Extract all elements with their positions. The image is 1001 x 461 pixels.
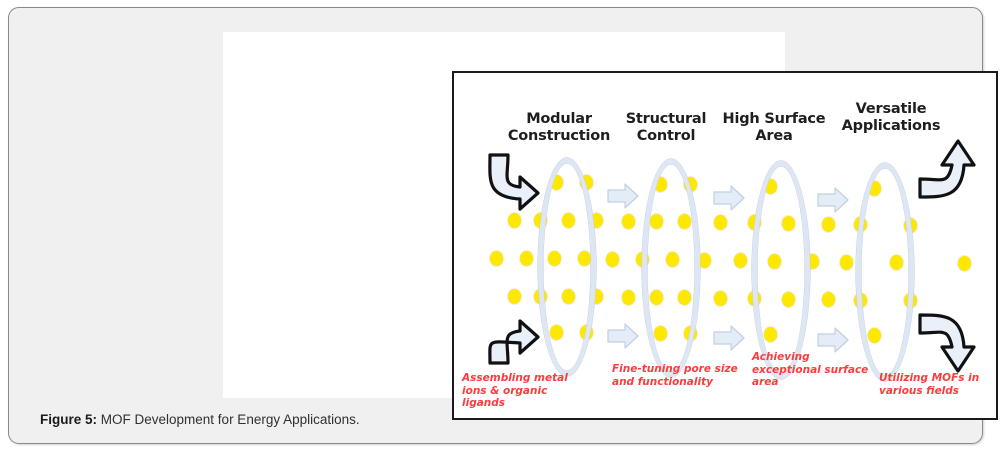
ring-versatile-applications (856, 163, 914, 381)
figure-caption-label: Figure 5: (40, 412, 97, 427)
annotation-line2: various fields (879, 385, 997, 398)
dot (520, 251, 533, 266)
stage-heading-line1: Modular (504, 111, 614, 128)
annotation-line1: Utilizing MOFs in (879, 372, 997, 385)
annotation-line2: ions & organic ligands (462, 385, 582, 410)
dot (958, 256, 971, 271)
stage-heading-line1: Structural (617, 111, 715, 128)
curved-arrow-in-bottom-icon (480, 305, 542, 372)
annotation-high-surface-area: Achieving exceptional surface area (752, 351, 874, 389)
dot (714, 215, 727, 230)
dot (734, 253, 747, 268)
stage-heading-versatile-applications: Versatile Applications (832, 101, 950, 135)
dot (622, 214, 635, 229)
ring-high-surface-area (752, 161, 810, 379)
ring-modular-construction (538, 158, 596, 376)
stage-heading-line2: Area (720, 128, 828, 145)
curved-arrow-out-top-icon (916, 135, 982, 206)
stage-heading-line2: Control (617, 128, 715, 145)
annotation-line1: Assembling metal (462, 372, 582, 385)
figure-caption: Figure 5: MOF Development for Energy App… (40, 412, 360, 427)
dot (606, 252, 619, 267)
stage-heading-line2: Construction (504, 128, 614, 145)
curved-arrow-in-top-icon (480, 151, 542, 218)
block-arrow-right-icon (712, 323, 746, 353)
annotation-line1: Achieving (752, 351, 874, 364)
annotation-versatile-applications: Utilizing MOFs in various fields (879, 372, 997, 397)
dot (822, 292, 835, 307)
annotation-line3: area (752, 376, 874, 389)
annotation-line1: Fine-tuning pore size (612, 363, 738, 376)
block-arrow-right-icon (606, 181, 640, 211)
ring-structural-control (642, 159, 700, 377)
dot (508, 289, 521, 304)
dot (622, 290, 635, 305)
mof-development-diagram: Modular Construction Structural Control … (452, 71, 998, 420)
stage-heading-line1: High Surface (720, 111, 828, 128)
dot (490, 251, 503, 266)
figure-image-plate: Modular Construction Structural Control … (223, 32, 785, 398)
stage-heading-high-surface-area: High Surface Area (720, 111, 828, 145)
stage-heading-line1: Versatile (832, 101, 950, 118)
figure-card: Modular Construction Structural Control … (8, 7, 983, 444)
dot (714, 291, 727, 306)
stage-heading-structural-control: Structural Control (617, 111, 715, 145)
dot (822, 217, 835, 232)
annotation-line2: exceptional surface (752, 364, 874, 377)
dot (840, 255, 853, 270)
block-arrow-right-icon (712, 183, 746, 213)
annotation-modular-construction: Assembling metal ions & organic ligands (462, 372, 582, 410)
block-arrow-right-icon (816, 185, 850, 215)
stage-heading-modular-construction: Modular Construction (504, 111, 614, 145)
block-arrow-right-icon (606, 321, 640, 351)
annotation-structural-control: Fine-tuning pore size and functionality (612, 363, 738, 388)
stage-heading-line2: Applications (832, 118, 950, 135)
figure-caption-text: MOF Development for Energy Applications. (97, 412, 360, 427)
annotation-line2: and functionality (612, 376, 738, 389)
